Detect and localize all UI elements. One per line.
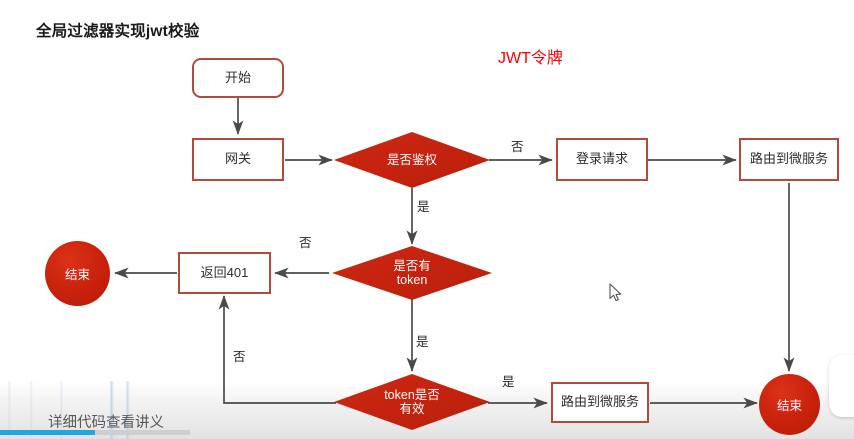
decision-token-valid-line1: token是否: [384, 388, 440, 402]
overlay-rounded-panel: [829, 355, 854, 417]
node-start: 开始: [192, 58, 284, 98]
decision-has-token-label: 是否有 token: [393, 259, 431, 288]
node-end-right: 结束: [759, 374, 820, 435]
edge-label-valid-no: 否: [233, 346, 246, 365]
decision-auth-required: 是否鉴权: [334, 132, 490, 188]
node-route-to-microservice-bottom: 路由到微服务: [551, 382, 649, 423]
node-return-401: 返回401: [178, 252, 271, 294]
node-end-right-label: 结束: [777, 395, 802, 414]
decision-has-token-line2: token: [393, 273, 431, 287]
edge-label-auth-no: 否: [511, 136, 524, 155]
node-end-left-label: 结束: [65, 264, 90, 283]
jwt-annotation: JWT令牌: [498, 44, 563, 68]
decision-token-valid-line2: 有效: [384, 402, 440, 416]
progress-bar-fill: [0, 430, 95, 435]
node-end-left: 结束: [45, 241, 110, 306]
slide-canvas: 登录请求 --> 是否有token --> 返回401 --> token是否有…: [0, 0, 854, 439]
decision-auth-required-label: 是否鉴权: [387, 153, 437, 167]
node-start-label: 开始: [225, 71, 251, 86]
edge-label-token-yes: 是: [416, 331, 429, 350]
node-gateway-label: 网关: [225, 152, 251, 167]
decision-has-token: 是否有 token: [332, 246, 492, 300]
node-login-request: 登录请求: [556, 138, 648, 181]
node-route-to-microservice-top-label: 路由到微服务: [750, 152, 828, 167]
node-route-to-microservice-bottom-label: 路由到微服务: [561, 395, 639, 410]
decision-token-valid-label: token是否 有效: [384, 388, 440, 417]
progress-bar-track[interactable]: [0, 430, 190, 435]
node-gateway: 网关: [192, 138, 284, 181]
node-route-to-microservice-top: 路由到微服务: [739, 138, 839, 181]
edge-label-valid-yes: 是: [502, 371, 515, 390]
page-title: 全局过滤器实现jwt校验: [36, 19, 199, 41]
node-login-request-label: 登录请求: [576, 152, 628, 167]
edge-label-auth-yes: 是: [417, 196, 430, 215]
edge-label-token-no: 否: [299, 232, 312, 251]
node-return-401-label: 返回401: [201, 266, 249, 281]
decision-token-valid: token是否 有效: [334, 374, 490, 430]
mouse-cursor-icon: [609, 283, 625, 303]
footer-note: 详细代码查看讲义: [48, 411, 164, 432]
decision-has-token-line1: 是否有: [393, 259, 431, 273]
